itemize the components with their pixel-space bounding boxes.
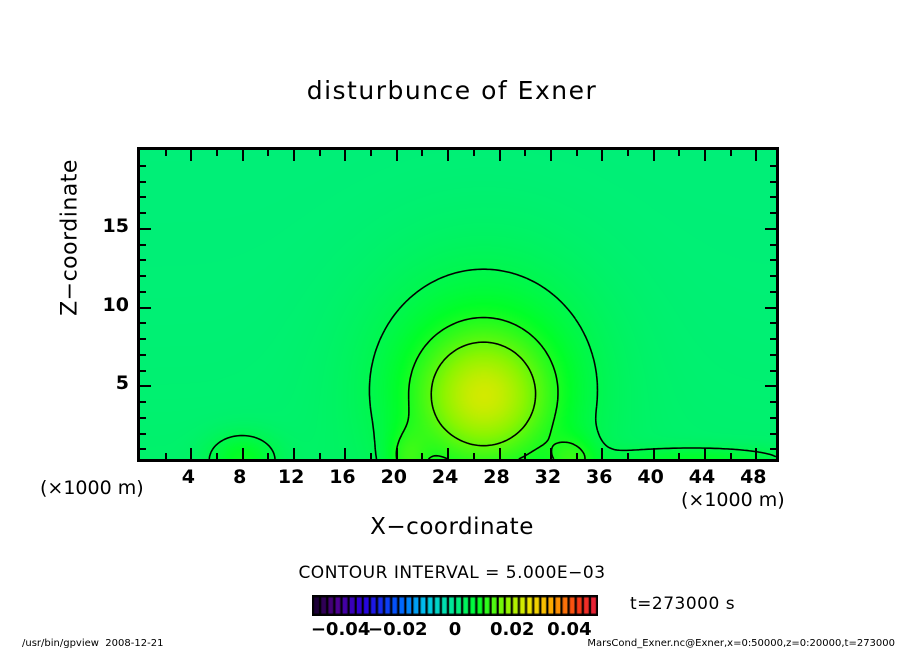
- plot-area: [137, 147, 779, 462]
- x-units-label-left: (×1000 m): [40, 477, 144, 499]
- y-axis-tick: [770, 244, 776, 246]
- y-axis-tick: [765, 228, 776, 230]
- x-tick-label: 32: [535, 466, 561, 488]
- x-axis-tick: [499, 448, 501, 459]
- x-axis-tick: [319, 453, 321, 459]
- y-axis-tick: [140, 244, 146, 246]
- x-axis-tick: [165, 150, 167, 156]
- x-axis-tick: [293, 448, 295, 459]
- x-axis-tick: [447, 150, 449, 161]
- y-tick-label: 10: [95, 294, 129, 316]
- x-axis-tick: [319, 150, 321, 156]
- x-tick-label: 48: [740, 466, 766, 488]
- y-axis-tick: [770, 370, 776, 372]
- x-axis-tick: [165, 453, 167, 459]
- x-axis-tick: [473, 453, 475, 459]
- y-axis-tick: [765, 307, 776, 309]
- y-axis-tick: [770, 291, 776, 293]
- x-axis-tick: [755, 150, 757, 161]
- x-tick-label: 44: [689, 466, 715, 488]
- x-axis-tick: [190, 448, 192, 459]
- x-axis-tick: [678, 150, 680, 156]
- contour-lines-overlay: [140, 150, 776, 459]
- y-axis-tick: [140, 165, 146, 167]
- y-axis-tick: [770, 275, 776, 277]
- x-axis-tick: [499, 150, 501, 161]
- y-axis-tick: [140, 212, 146, 214]
- x-tick-label: 24: [432, 466, 458, 488]
- y-axis-tick: [770, 181, 776, 183]
- y-axis-tick: [770, 165, 776, 167]
- x-axis-tick: [627, 150, 629, 156]
- contour-interval-caption: CONTOUR INTERVAL = 5.000E−03: [0, 563, 904, 583]
- x-tick-label: 28: [483, 466, 509, 488]
- x-tick-label: 40: [637, 466, 663, 488]
- y-axis-tick: [770, 196, 776, 198]
- x-axis-tick: [550, 448, 552, 459]
- y-axis-title: Z−coordinate: [58, 108, 83, 368]
- x-axis-tick: [421, 453, 423, 459]
- x-axis-tick: [627, 453, 629, 459]
- y-axis-tick: [140, 307, 151, 309]
- y-axis-tick: [770, 354, 776, 356]
- colorbar: [312, 595, 598, 616]
- y-tick-label: 15: [95, 215, 129, 237]
- y-axis-tick: [765, 385, 776, 387]
- x-axis-tick: [216, 453, 218, 459]
- y-tick-label: 5: [95, 372, 129, 394]
- x-axis-tick: [550, 150, 552, 161]
- x-axis-tick: [344, 150, 346, 161]
- x-axis-tick: [370, 453, 372, 459]
- x-axis-tick: [653, 448, 655, 459]
- x-axis-tick: [730, 453, 732, 459]
- x-axis-tick: [242, 448, 244, 459]
- x-axis-tick: [730, 150, 732, 156]
- x-axis-tick: [755, 448, 757, 459]
- x-axis-tick: [396, 150, 398, 161]
- footer-dataset: MarsCond_Exner.nc@Exner,x=0:50000,z=0:20…: [587, 638, 895, 649]
- y-axis-tick: [140, 181, 146, 183]
- y-axis-tick: [770, 401, 776, 403]
- x-axis-tick: [293, 150, 295, 161]
- y-axis-tick: [140, 196, 146, 198]
- y-axis-tick: [770, 338, 776, 340]
- y-axis-tick: [770, 259, 776, 261]
- x-tick-label: 4: [182, 466, 195, 488]
- x-axis-tick: [473, 150, 475, 156]
- x-tick-label: 8: [233, 466, 246, 488]
- x-axis-tick: [576, 453, 578, 459]
- x-axis-tick: [704, 150, 706, 161]
- x-axis-tick: [242, 150, 244, 161]
- colorbar-canvas: [313, 596, 597, 615]
- y-axis-tick: [140, 354, 146, 356]
- y-axis-tick: [140, 370, 146, 372]
- y-axis-tick: [140, 385, 151, 387]
- y-axis-tick: [770, 322, 776, 324]
- y-axis-tick: [770, 212, 776, 214]
- y-axis-tick: [140, 338, 146, 340]
- x-axis-tick: [524, 453, 526, 459]
- colorbar-tick-label: −0.04: [311, 619, 371, 640]
- y-axis-tick: [140, 228, 151, 230]
- x-axis-tick: [576, 150, 578, 156]
- x-tick-label: 12: [278, 466, 304, 488]
- y-axis-tick: [140, 448, 146, 450]
- x-units-label-right: (×1000 m): [681, 489, 785, 511]
- x-axis-tick: [601, 150, 603, 161]
- y-axis-tick: [140, 291, 146, 293]
- y-axis-tick: [770, 417, 776, 419]
- y-axis-tick: [140, 417, 146, 419]
- x-axis-tick: [344, 448, 346, 459]
- y-axis-tick: [140, 275, 146, 277]
- x-axis-tick: [601, 448, 603, 459]
- contour-path: [209, 269, 776, 459]
- y-axis-tick: [770, 433, 776, 435]
- x-axis-tick: [678, 453, 680, 459]
- x-tick-label: 20: [381, 466, 407, 488]
- x-tick-label: 16: [329, 466, 355, 488]
- x-axis-tick: [267, 453, 269, 459]
- x-axis-tick: [421, 150, 423, 156]
- colorbar-tick-label: 0.02: [490, 619, 534, 640]
- x-axis-tick: [216, 150, 218, 156]
- colorbar-tick-label: −0.02: [368, 619, 428, 640]
- page-title: disturbunce of Exner: [0, 76, 904, 105]
- x-axis-tick: [704, 448, 706, 459]
- colorbar-tick-label: 0.04: [547, 619, 591, 640]
- colorbar-tick-label: 0: [449, 619, 462, 640]
- x-axis-tick: [396, 448, 398, 459]
- x-axis-tick: [524, 150, 526, 156]
- y-axis-tick: [770, 448, 776, 450]
- x-axis-tick: [370, 150, 372, 156]
- x-axis-title: X−coordinate: [0, 514, 904, 540]
- y-axis-tick: [140, 259, 146, 261]
- x-axis-tick: [267, 150, 269, 156]
- time-annotation: t=273000 s: [630, 594, 735, 614]
- x-axis-tick: [653, 150, 655, 161]
- y-axis-tick: [140, 401, 146, 403]
- x-tick-label: 36: [586, 466, 612, 488]
- y-axis-tick: [140, 433, 146, 435]
- footer-command: /usr/bin/gpview 2008-12-21: [22, 638, 163, 649]
- y-axis-tick: [140, 322, 146, 324]
- x-axis-tick: [447, 448, 449, 459]
- x-axis-tick: [190, 150, 192, 161]
